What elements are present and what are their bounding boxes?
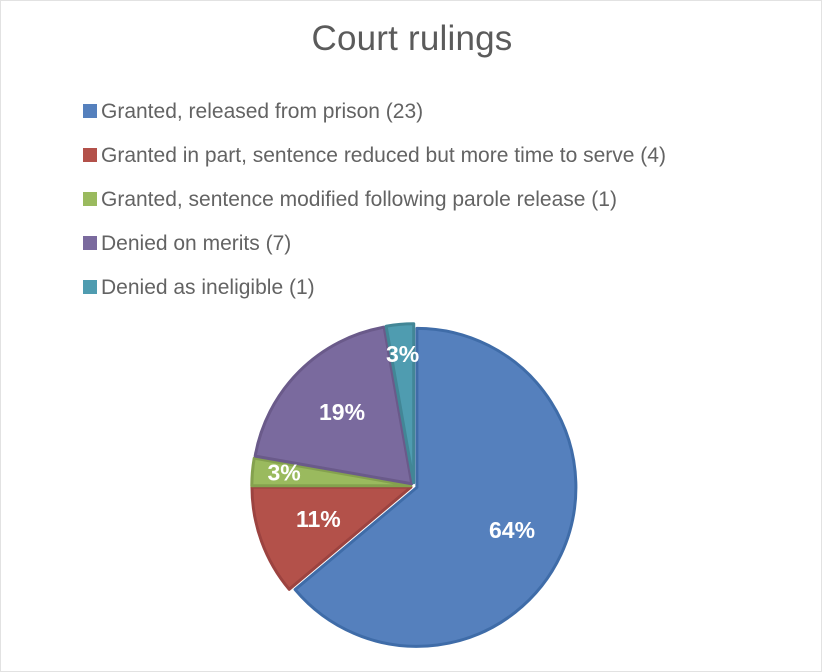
legend-item-denied-ineligible[interactable]: Denied as ineligible (1) — [83, 265, 783, 309]
legend-item-granted-in-part[interactable]: Granted in part, sentence reduced but mo… — [83, 133, 783, 177]
pie-slice-label-denied-ineligible: 3% — [386, 341, 419, 367]
legend-item-denied-merits[interactable]: Denied on merits (7) — [83, 221, 783, 265]
chart-container: Court rulings Granted, released from pri… — [0, 0, 822, 672]
chart-legend: Granted, released from prison (23) Grant… — [83, 89, 783, 309]
legend-item-label: Granted in part, sentence reduced but mo… — [101, 145, 666, 166]
legend-swatch-icon — [83, 148, 97, 162]
pie-chart: 64%11%3%19%3% — [244, 316, 584, 656]
legend-swatch-icon — [83, 192, 97, 206]
legend-item-label: Granted, released from prison (23) — [101, 101, 423, 122]
legend-item-label: Denied on merits (7) — [101, 233, 291, 254]
legend-item-label: Denied as ineligible (1) — [101, 277, 315, 298]
pie-slice-label-granted-in-part: 11% — [296, 506, 341, 532]
pie-chart-svg: 64%11%3%19%3% — [244, 316, 584, 656]
pie-slice-label-granted-modified: 3% — [267, 460, 300, 486]
chart-title: Court rulings — [1, 19, 822, 59]
legend-item-granted-released[interactable]: Granted, released from prison (23) — [83, 89, 783, 133]
pie-slice-label-granted-released: 64% — [489, 517, 535, 543]
legend-swatch-icon — [83, 104, 97, 118]
pie-slice-label-denied-merits: 19% — [319, 399, 365, 425]
legend-swatch-icon — [83, 236, 97, 250]
legend-item-granted-modified[interactable]: Granted, sentence modified following par… — [83, 177, 783, 221]
legend-item-label: Granted, sentence modified following par… — [101, 189, 617, 210]
legend-swatch-icon — [83, 280, 97, 294]
